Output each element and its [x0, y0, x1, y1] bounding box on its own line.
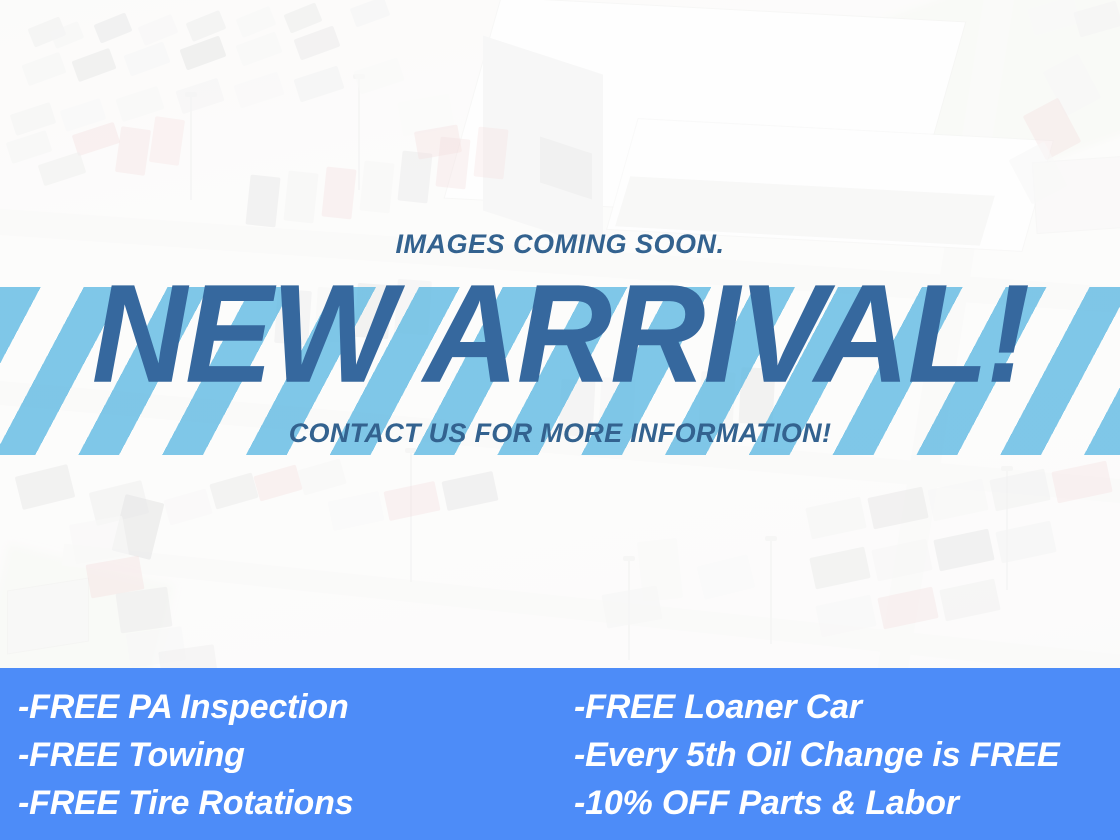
new-arrival-placeholder-graphic: IMAGES COMING SOON. NEW ARRIVAL! CONTACT… [0, 0, 1120, 840]
offers-left-column: -FREE PA Inspection -FREE Towing -FREE T… [0, 680, 564, 830]
offer-item: -FREE Loaner Car [574, 683, 1120, 731]
offer-item: -Every 5th Oil Change is FREE [574, 731, 1120, 779]
offer-item: -FREE Tire Rotations [18, 779, 564, 827]
offer-item: -FREE Towing [18, 731, 564, 779]
offers-right-column: -FREE Loaner Car -Every 5th Oil Change i… [564, 680, 1120, 830]
offers-banner: -FREE PA Inspection -FREE Towing -FREE T… [0, 668, 1120, 840]
offer-item: -FREE PA Inspection [18, 683, 564, 731]
new-arrival-title: NEW ARRIVAL! [92, 264, 1029, 404]
offer-item: -10% OFF Parts & Labor [574, 779, 1120, 827]
headline-block: IMAGES COMING SOON. NEW ARRIVAL! CONTACT… [0, 0, 1120, 668]
contact-us-subtitle: CONTACT US FOR MORE INFORMATION! [289, 418, 832, 449]
